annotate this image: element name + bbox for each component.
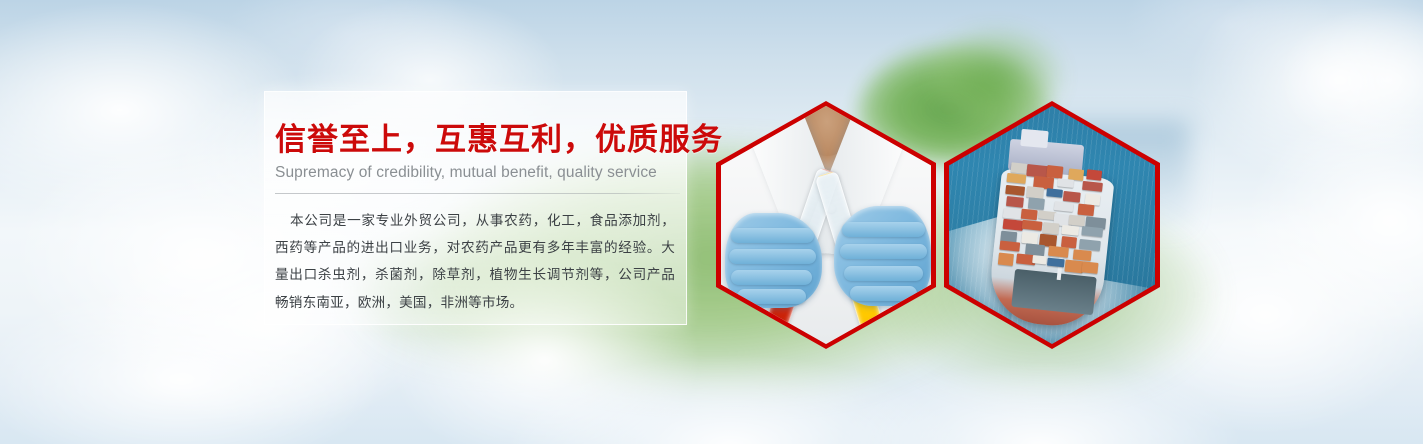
shipping-container bbox=[1006, 196, 1025, 207]
cloud-wisp-upper-right bbox=[1090, 0, 1370, 110]
divider-rule bbox=[275, 193, 680, 194]
shipping-container bbox=[1047, 258, 1064, 268]
shipping-container bbox=[1046, 189, 1063, 199]
shipping-container bbox=[1048, 246, 1069, 258]
shipping-container bbox=[1011, 162, 1028, 174]
glove-finger bbox=[729, 249, 816, 264]
shipping-container bbox=[1080, 239, 1101, 251]
shipping-container bbox=[1064, 191, 1081, 202]
shipping-container bbox=[1006, 185, 1025, 196]
cloud-right-a bbox=[1130, 0, 1423, 230]
hexagon-lab-photo bbox=[716, 101, 936, 349]
hexagon-ship-photo bbox=[944, 101, 1160, 349]
lab-scene bbox=[721, 106, 931, 344]
company-description: 本公司是一家专业外贸公司，从事农药，化工，食品添加剂，西药等产品的进出口业务，对… bbox=[275, 207, 675, 316]
shipping-container bbox=[1003, 219, 1024, 231]
shipping-container bbox=[1021, 232, 1038, 244]
shipping-container bbox=[1081, 262, 1098, 275]
blue-glove-right bbox=[834, 206, 931, 306]
headline-chinese: 信誉至上，互惠互利，优质服务 bbox=[275, 124, 676, 155]
shipping-container bbox=[1069, 215, 1086, 226]
fog-band-left bbox=[420, 320, 1040, 444]
blue-glove-left bbox=[725, 213, 822, 308]
shipping-container bbox=[1073, 249, 1092, 261]
text-panel-inner: 信誉至上，互惠互利，优质服务 Supremacy of credibility,… bbox=[265, 92, 686, 316]
shipping-container bbox=[1022, 209, 1039, 220]
ship-bridge-top bbox=[1020, 129, 1048, 148]
subheadline-english: Supremacy of credibility, mutual benefit… bbox=[275, 164, 676, 182]
shipping-container bbox=[1000, 241, 1021, 252]
shipping-container bbox=[1057, 178, 1074, 188]
shipping-container bbox=[1022, 220, 1043, 231]
hexagon-ship-photo-inner bbox=[949, 106, 1155, 344]
cloud-right-d bbox=[1240, 0, 1423, 180]
shipping-container bbox=[1043, 222, 1059, 234]
cloud-right-b bbox=[1190, 60, 1423, 380]
glove-finger bbox=[731, 228, 814, 243]
shipping-container bbox=[1028, 198, 1045, 210]
promotional-banner: 信誉至上，互惠互利，优质服务 Supremacy of credibility,… bbox=[0, 0, 1423, 444]
shipping-container bbox=[1054, 201, 1074, 213]
fog-band-right bbox=[760, 330, 1320, 444]
glove-finger bbox=[844, 266, 923, 281]
glove-finger bbox=[737, 289, 807, 304]
shipping-container bbox=[1062, 225, 1079, 235]
shipping-container bbox=[1087, 169, 1103, 181]
glove-finger bbox=[731, 270, 812, 285]
shipping-container bbox=[1007, 173, 1028, 183]
shipping-container bbox=[1082, 181, 1103, 192]
glove-finger bbox=[840, 244, 927, 259]
glove-finger bbox=[850, 286, 918, 301]
hexagon-lab-photo-inner bbox=[721, 106, 931, 344]
text-panel: 信誉至上，互惠互利，优质服务 Supremacy of credibility,… bbox=[264, 91, 687, 325]
shipping-container bbox=[1078, 204, 1096, 217]
shipping-container bbox=[1082, 226, 1103, 237]
glove-finger bbox=[842, 222, 925, 237]
shipping-containers bbox=[993, 158, 1115, 278]
shipping-container bbox=[998, 252, 1014, 266]
